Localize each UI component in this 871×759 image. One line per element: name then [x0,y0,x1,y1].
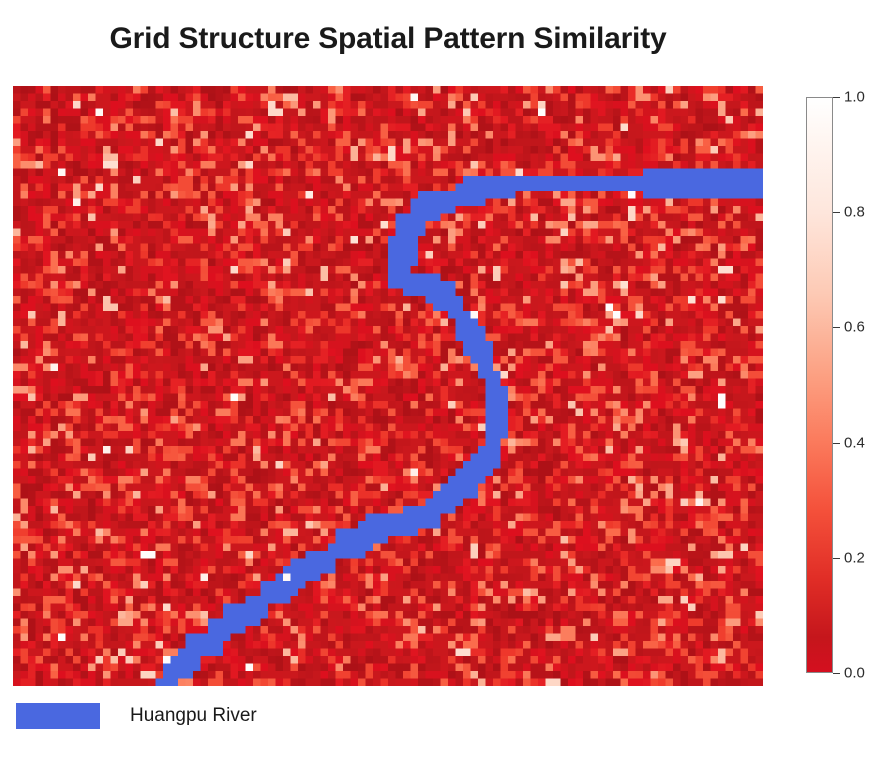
colorbar-tick-label: 0.4 [844,434,865,451]
heatmap-canvas[interactable] [13,86,763,686]
colorbar-tick-mark [833,97,840,98]
figure-container: Grid Structure Spatial Pattern Similarit… [0,0,871,759]
colorbar-tick-mark [833,212,840,213]
colorbar-gradient [806,97,833,673]
colorbar-tick-label: 0.2 [844,549,865,566]
legend-label-huangpu-river: Huangpu River [130,705,257,727]
colorbar-tick-mark [833,558,840,559]
colorbar[interactable]: 1.00.80.60.40.20.0 [806,97,868,673]
colorbar-tick-label: 1.0 [844,89,865,106]
colorbar-tick-label: 0.6 [844,319,865,336]
legend-swatch-huangpu-river [16,703,100,729]
colorbar-tick-mark [833,327,840,328]
heatmap-plot-area[interactable] [13,86,763,686]
page-title: Grid Structure Spatial Pattern Similarit… [0,22,776,56]
colorbar-tick-label: 0.0 [844,665,865,682]
legend: Huangpu River [16,703,257,729]
colorbar-tick-label: 0.8 [844,204,865,221]
colorbar-tick-mark [833,673,840,674]
colorbar-tick-mark [833,443,840,444]
